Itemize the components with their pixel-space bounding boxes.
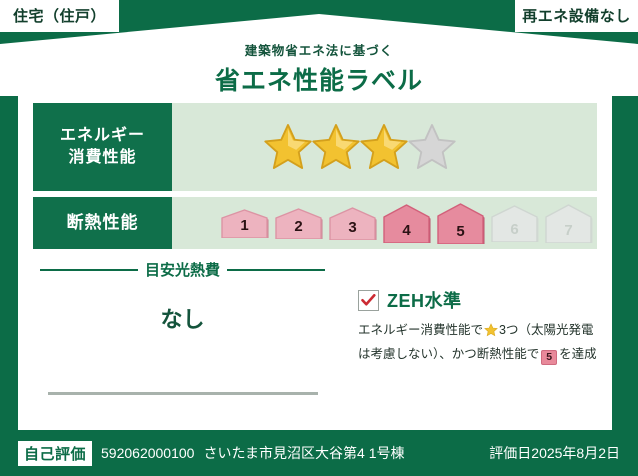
insulation-level-value: 3	[328, 219, 377, 236]
insulation-level-active: 5	[436, 202, 485, 244]
tag-renewable-energy: 再エネ設備なし	[515, 0, 638, 32]
insulation-level-active: 3	[328, 206, 377, 240]
evaluation-id: 592062000100	[101, 445, 194, 461]
utility-cost-header: 目安光熱費	[40, 259, 325, 280]
property-address: さいたま市見沼区大谷第4 1号棟	[203, 443, 489, 463]
header-title-block: 建築物省エネ法に基づく 省エネ性能ラベル	[0, 40, 638, 97]
utility-cost-bottom-divider	[48, 392, 318, 395]
insulation-level-value: 2	[274, 218, 323, 235]
energy-performance-label: エネルギー 消費性能	[33, 103, 172, 191]
insulation-performance-label: 断熱性能	[33, 197, 172, 249]
zeh-desc-part4: を達成	[559, 347, 597, 361]
zeh-block: ZEH水準 エネルギー消費性能で 3つ（太陽光発電 は考慮しない）、かつ断熱性能…	[358, 287, 608, 365]
evaluation-type-badge: 自己評価	[18, 441, 92, 466]
zeh-description: エネルギー消費性能で 3つ（太陽光発電 は考慮しない）、かつ断熱性能で5を達成	[358, 320, 608, 365]
footer-bar: 自己評価 592062000100 さいたま市見沼区大谷第4 1号棟 評価日20…	[0, 430, 638, 476]
zeh-desc-part3: は考慮しない）、かつ断熱性能で	[358, 347, 539, 361]
energy-label-line2: 消費性能	[68, 147, 136, 169]
page-title: 省エネ性能ラベル	[0, 61, 638, 97]
insulation-level-value: 5	[436, 223, 485, 240]
insulation-badge-inline: 5	[541, 350, 557, 365]
insulation-level-active: 4	[382, 203, 431, 243]
insulation-level-value: 6	[490, 221, 539, 238]
zeh-desc-part1: エネルギー消費性能で	[358, 323, 483, 337]
energy-label-root: 住宅（住戸） 再エネ設備なし 建築物省エネ法に基づく 省エネ性能ラベル エネルギ…	[0, 0, 638, 476]
row-insulation-performance: 断熱性能 1234567	[33, 197, 597, 249]
rule-right	[227, 269, 325, 271]
zeh-checkbox[interactable]	[358, 290, 379, 311]
insulation-level-active: 2	[274, 207, 323, 239]
utility-cost-title: 目安光熱費	[145, 259, 220, 280]
tag-building-type: 住宅（住戸）	[0, 0, 119, 32]
rule-left	[40, 269, 138, 271]
row-energy-performance: エネルギー 消費性能	[33, 103, 597, 191]
zeh-desc-part2: 3つ（太陽光発電	[499, 323, 593, 337]
insulation-level-value: 7	[544, 222, 593, 239]
insulation-level-inactive: 6	[490, 204, 539, 242]
insulation-level-value: 1	[220, 217, 269, 234]
star-rating	[172, 122, 597, 172]
star-icon-inline	[484, 323, 498, 344]
star-icon-filled	[262, 122, 314, 172]
label-card: エネルギー 消費性能 断熱性能 1234567 目安光熱費 なし	[18, 92, 612, 430]
insulation-rating-scale: 1234567	[172, 202, 597, 244]
zeh-header: ZEH水準	[358, 287, 608, 313]
insulation-level-value: 4	[382, 222, 431, 239]
zeh-title: ZEH水準	[387, 287, 462, 313]
insulation-level-active: 1	[220, 208, 269, 238]
energy-label-line1: エネルギー	[60, 125, 145, 147]
utility-cost-value: なし	[40, 302, 325, 334]
star-icon-empty	[406, 122, 458, 172]
star-icon-filled	[358, 122, 410, 172]
header-subtitle: 建築物省エネ法に基づく	[0, 40, 638, 59]
insulation-level-inactive: 7	[544, 203, 593, 243]
star-icon-filled	[310, 122, 362, 172]
evaluation-date: 評価日2025年8月2日	[489, 443, 620, 463]
